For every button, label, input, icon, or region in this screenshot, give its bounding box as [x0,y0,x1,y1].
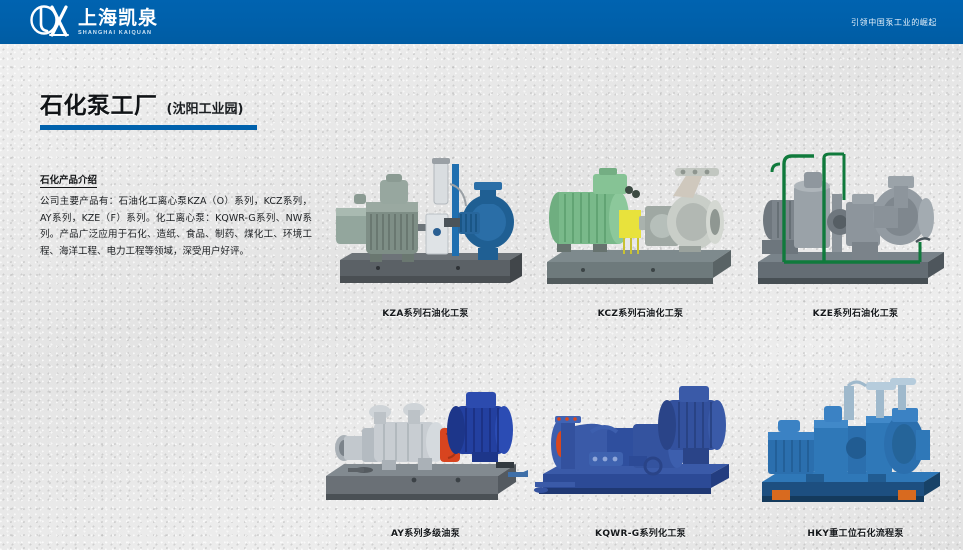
product-caption: KZE系列石油化工泵 [748,306,963,319]
title-underline-rule [40,125,257,130]
page-title: 石化泵工厂 [40,86,158,120]
product-card[interactable]: KZA系列石油化工泵 [318,150,533,319]
product-caption: KQWR-G系列化工泵 [533,526,748,539]
product-card[interactable]: KZE系列石油化工泵 [748,150,963,319]
intro-heading: 石化产品介绍 [40,172,97,188]
page-subtitle: (沈阳工业园) [167,98,244,117]
product-caption: HKY重工位石化流程泵 [748,526,963,539]
product-card[interactable]: AY系列多级油泵 [318,370,533,539]
product-card[interactable]: KCZ系列石油化工泵 [533,150,748,319]
product-card[interactable]: HKY重工位石化流程泵 [748,370,963,539]
page-title-block: 石化泵工厂 (沈阳工业园) [40,86,257,130]
kza-pump-photo [318,150,533,300]
page-body: 石化泵工厂 (沈阳工业园) 石化产品介绍 公司主要产品有：石油化工离心泵KZA（… [0,44,963,550]
kze-pump-photo [748,150,963,300]
logo-english-name: SHANGHAI KAIQUAN [78,31,158,37]
ay-pump-photo [318,370,533,520]
product-caption: KZA系列石油化工泵 [318,306,533,319]
product-grid: KZA系列石油化工泵 [318,104,963,550]
intro-body-text: 公司主要产品有：石油化工离心泵KZA（O）系列，KCZ系列，AY系列，KZE（F… [40,194,312,260]
product-caption: KCZ系列石油化工泵 [533,306,748,319]
page-header: 上海凯泉 SHANGHAI KAIQUAN 引领中国泵工业的崛起 [0,0,963,44]
header-slogan: 引领中国泵工业的崛起 [851,0,937,44]
kqwrg-pump-photo [533,370,748,520]
logo-chinese-name: 上海凯泉 [78,9,158,28]
brand-logo[interactable]: 上海凯泉 SHANGHAI KAIQUAN [28,5,158,39]
hky-pump-photo [748,370,963,520]
kaiquan-monogram-icon [28,5,72,39]
intro-section: 石化产品介绍 公司主要产品有：石油化工离心泵KZA（O）系列，KCZ系列，AY系… [40,170,312,260]
kcz-pump-photo [533,150,748,300]
product-caption: AY系列多级油泵 [318,526,533,539]
product-card[interactable]: KQWR-G系列化工泵 [533,370,748,539]
